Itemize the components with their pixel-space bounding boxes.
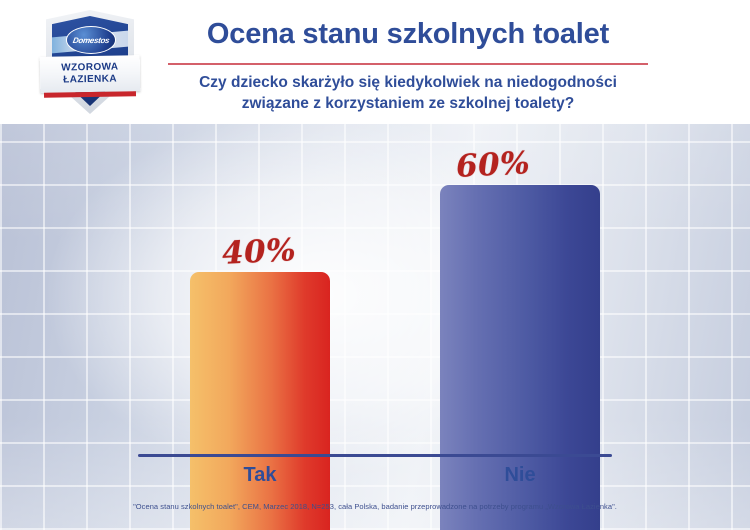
subtitle-line-2: związane z korzystaniem ze szkolnej toal… (158, 93, 658, 114)
subtitle-line-1: Czy dziecko skarżyło się kiedykolwiek na… (158, 72, 658, 93)
program-name-line2: ŁAZIENKA (63, 74, 117, 87)
bar-value-label-tak: 40% (221, 232, 297, 272)
tile-background-sheen (0, 124, 750, 530)
wzorowa-lazienka-logo: Domestos WZOROWA ŁAZIENKA (38, 8, 142, 116)
category-label-nie: Nie (440, 464, 600, 487)
title-divider (168, 63, 648, 65)
bar-tak (190, 272, 330, 530)
x-axis-line (138, 454, 612, 457)
category-label-tak: Tak (190, 464, 330, 487)
source-footnote: "Ocena stanu szkolnych toalet", CEM, Mar… (0, 502, 750, 511)
bar-value-label-nie: 60% (455, 145, 531, 185)
page-subtitle: Czy dziecko skarżyło się kiedykolwiek na… (158, 72, 658, 114)
program-name-line1: WZOROWA (61, 62, 118, 75)
domestos-brand-label: Domestos (72, 36, 110, 45)
page-title: Ocena stanu szkolnych toalet (168, 18, 648, 51)
logo-red-stripe (44, 91, 136, 98)
logo-ribbon: WZOROWA ŁAZIENKA (40, 55, 141, 93)
chart-panel: 40% 60% Tak Nie "Ocena stanu szkolnych t… (0, 124, 750, 530)
header: Domestos WZOROWA ŁAZIENKA Ocena stanu sz… (0, 0, 750, 124)
domestos-brand-badge: Domestos (66, 26, 116, 54)
